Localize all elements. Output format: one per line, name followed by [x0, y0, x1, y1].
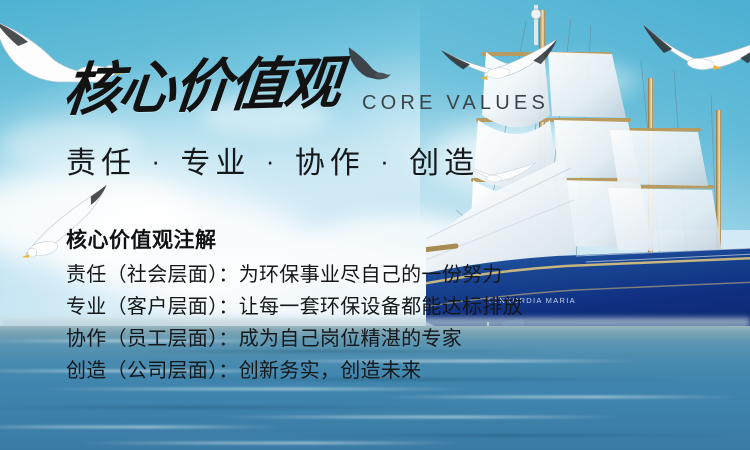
- annotation-line: 责任（社会层面）：为环保事业尽自己的一份努力: [66, 259, 523, 291]
- value-separator: ·: [149, 146, 167, 176]
- value-separator: ·: [378, 146, 396, 176]
- value-item-4: 创造: [409, 147, 479, 180]
- seagull-icon: [341, 45, 409, 93]
- headline-english: CORE VALUES: [362, 92, 549, 115]
- annotations-heading: 核心价值观注解: [66, 224, 217, 254]
- annotation-line: 创造（公司层面）：创新务实，创造未来: [66, 355, 523, 387]
- annotation-line: 协作（员工层面）：成为自己岗位精湛的专家: [66, 323, 523, 355]
- annotation-line: 专业（客户层面）：让每一套环保设备都能达标排放: [66, 291, 523, 323]
- core-values-list: 责任 · 专业 · 协作 · 创造: [66, 138, 479, 182]
- annotations-list: 责任（社会层面）：为环保事业尽自己的一份努力 专业（客户层面）：让每一套环保设备…: [66, 259, 523, 387]
- seagull-icon: [636, 20, 750, 98]
- page-title: 核心价值观: [61, 54, 342, 119]
- value-separator: ·: [264, 146, 282, 176]
- core-values-banner: KONKORDIA MARIA: [0, 0, 750, 450]
- value-item-3: 协作: [295, 147, 365, 180]
- value-item-1: 责任: [66, 147, 136, 180]
- value-item-2: 专业: [180, 147, 250, 180]
